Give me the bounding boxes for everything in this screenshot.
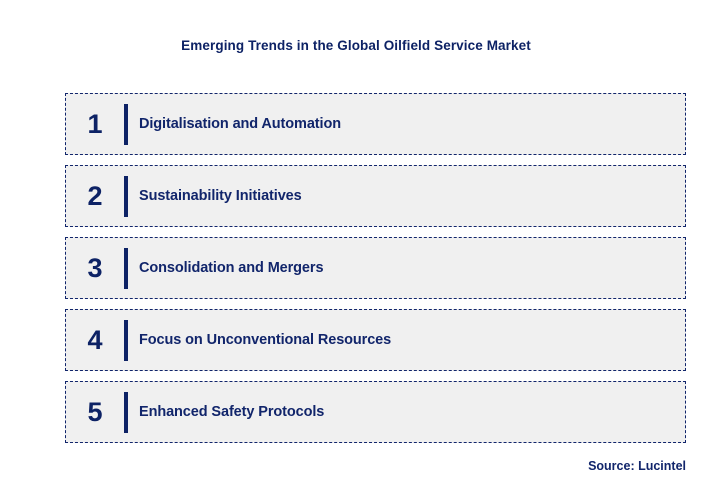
trend-row: 5 Enhanced Safety Protocols [65, 381, 686, 443]
trend-row: 3 Consolidation and Mergers [65, 237, 686, 299]
trend-label: Focus on Unconventional Resources [128, 332, 685, 349]
trend-number: 2 [66, 183, 124, 210]
trend-label: Sustainability Initiatives [128, 188, 685, 205]
trend-number: 3 [66, 255, 124, 282]
trend-list: 1 Digitalisation and Automation 2 Sustai… [65, 93, 686, 443]
trend-label: Consolidation and Mergers [128, 260, 685, 277]
trend-label: Digitalisation and Automation [128, 116, 685, 133]
trend-number: 1 [66, 111, 124, 138]
trend-row: 4 Focus on Unconventional Resources [65, 309, 686, 371]
infographic-canvas: Emerging Trends in the Global Oilfield S… [0, 0, 712, 501]
page-title: Emerging Trends in the Global Oilfield S… [0, 38, 712, 53]
trend-row: 2 Sustainability Initiatives [65, 165, 686, 227]
trend-number: 5 [66, 399, 124, 426]
source-attribution: Source: Lucintel [588, 459, 686, 473]
trend-row: 1 Digitalisation and Automation [65, 93, 686, 155]
trend-label: Enhanced Safety Protocols [128, 404, 685, 421]
trend-number: 4 [66, 327, 124, 354]
